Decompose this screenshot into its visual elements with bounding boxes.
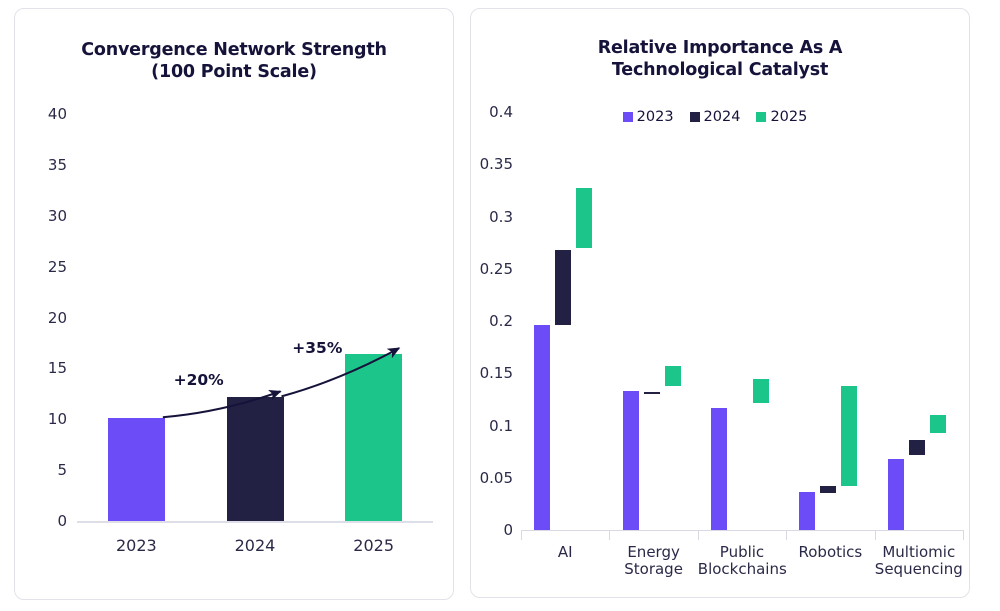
right-bar-2024-Robotics[interactable] — [820, 486, 836, 493]
right-chart-plot-area: 00.050.10.150.20.250.30.350.4AIEnergy St… — [471, 9, 971, 599]
relative-importance-card: Relative Importance As A Technological C… — [470, 8, 970, 598]
right-bar-2025-Public-Blockchains[interactable] — [753, 379, 769, 403]
right-bar-2023-Public-Blockchains[interactable] — [711, 408, 727, 530]
right-bar-2023-Robotics[interactable] — [799, 492, 815, 530]
right-bar-2024-Multiomic-Sequencing[interactable] — [909, 440, 925, 456]
right-bar-2023-Multiomic-Sequencing[interactable] — [888, 459, 904, 530]
x-tick-separator — [521, 530, 522, 540]
right-bar-2023-AI[interactable] — [534, 325, 550, 530]
dashboard-root: Convergence Network Strength (100 Point … — [0, 0, 1000, 611]
right-y-tick-label: 0.15 — [467, 364, 513, 382]
right-bar-2024-AI[interactable] — [555, 250, 571, 325]
right-x-tick-label: AI — [521, 544, 609, 561]
right-bar-2023-Energy-Storage[interactable] — [623, 391, 639, 530]
x-tick-separator — [698, 530, 699, 540]
x-tick-separator — [963, 530, 964, 540]
right-y-tick-label: 0 — [467, 521, 513, 539]
right-y-tick-label: 0.3 — [467, 208, 513, 226]
right-chart-x-axis — [521, 530, 963, 531]
right-bar-2025-Robotics[interactable] — [841, 386, 857, 486]
left-chart-plot-area: 0510152025303540202320242025+20%+35% — [15, 9, 455, 601]
right-x-tick-label: Energy Storage — [609, 544, 697, 579]
convergence-network-strength-card: Convergence Network Strength (100 Point … — [14, 8, 454, 600]
x-tick-separator — [875, 530, 876, 540]
right-y-tick-label: 0.25 — [467, 260, 513, 278]
right-bar-2025-AI[interactable] — [576, 188, 592, 248]
right-bar-2024-Energy-Storage[interactable] — [644, 392, 660, 394]
right-bar-2025-Multiomic-Sequencing[interactable] — [930, 415, 946, 433]
right-x-tick-label: Multiomic Sequencing — [875, 544, 963, 579]
right-x-tick-label: Robotics — [786, 544, 874, 561]
right-y-tick-label: 0.35 — [467, 155, 513, 173]
x-tick-separator — [786, 530, 787, 540]
right-y-tick-label: 0.4 — [467, 103, 513, 121]
right-x-tick-label: Public Blockchains — [698, 544, 786, 579]
right-y-tick-label: 0.05 — [467, 469, 513, 487]
right-bar-2025-Energy-Storage[interactable] — [665, 366, 681, 386]
right-y-tick-label: 0.1 — [467, 417, 513, 435]
growth-arrow — [282, 348, 400, 396]
x-tick-separator — [609, 530, 610, 540]
growth-arrow — [163, 391, 281, 417]
right-y-tick-label: 0.2 — [467, 312, 513, 330]
growth-arrows — [15, 9, 455, 601]
